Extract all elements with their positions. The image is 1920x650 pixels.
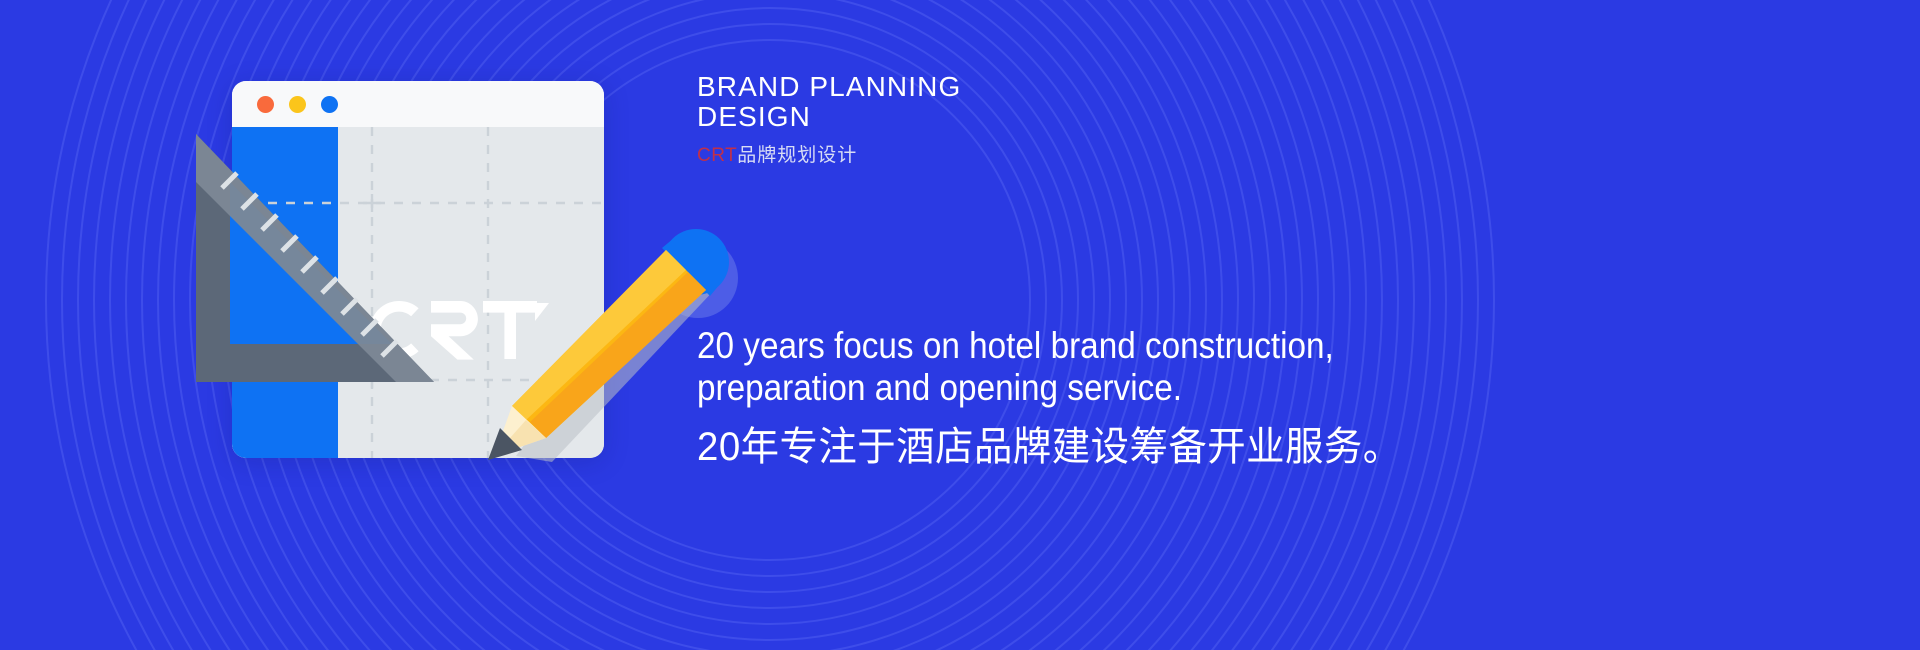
headline-crt-prefix: CRT — [697, 145, 737, 166]
tagline-block: 20 years focus on hotel brand constructi… — [697, 325, 1597, 471]
headline-block: BRAND PLANNING DESIGN CRT品牌规划设计 — [697, 72, 1257, 167]
close-dot-icon — [257, 96, 274, 113]
tagline-english: 20 years focus on hotel brand constructi… — [697, 325, 1507, 409]
browser-titlebar — [232, 81, 604, 127]
headline-english: BRAND PLANNING DESIGN — [697, 72, 1257, 132]
brand-banner: BRAND PLANNING DESIGN CRT品牌规划设计 20 years… — [0, 0, 1920, 650]
headline-chinese-text: 品牌规划设计 — [737, 145, 857, 166]
minimize-dot-icon — [289, 96, 306, 113]
headline-chinese: CRT品牌规划设计 — [697, 140, 1257, 167]
maximize-dot-icon — [321, 96, 338, 113]
tagline-chinese: 20年专注于酒店品牌建设筹备开业服务。 — [697, 423, 1561, 471]
set-square-ruler-icon — [190, 128, 440, 388]
